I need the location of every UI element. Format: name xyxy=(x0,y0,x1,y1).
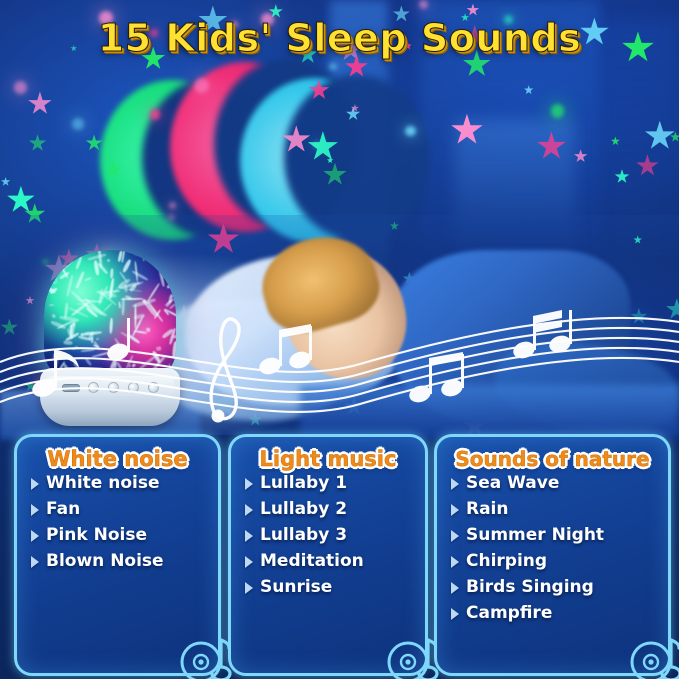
sound-list: Sea WaveRainSummer NightChirpingBirds Si… xyxy=(437,475,668,622)
sound-list-item[interactable]: Meditation xyxy=(245,553,425,570)
sound-list-item[interactable]: Birds Singing xyxy=(451,579,668,596)
sound-list: White noiseFanPink NoiseBlown Noise xyxy=(17,475,218,570)
dome-crackle-line xyxy=(108,317,112,333)
dome-crackle-line xyxy=(96,338,100,341)
star-projector-device xyxy=(40,250,180,425)
page-title: 15 Kids' Sleep Sounds xyxy=(0,16,679,60)
triangle-bullet-icon xyxy=(245,556,253,568)
sound-list-item[interactable]: Chirping xyxy=(451,553,668,570)
sound-name-label: White noise xyxy=(46,475,160,492)
triangle-bullet-icon xyxy=(31,556,39,568)
sound-name-label: Rain xyxy=(466,501,509,518)
triangle-bullet-icon xyxy=(451,608,459,620)
sound-list: Lullaby 1Lullaby 2Lullaby 3MeditationSun… xyxy=(231,475,425,596)
projected-light-dot xyxy=(169,202,176,209)
dome-crackle-line xyxy=(103,302,113,312)
product-marketing-image: 15 Kids' Sleep Sounds White noiseWhite n… xyxy=(0,0,679,679)
dome-crackle-line xyxy=(173,250,176,271)
triangle-bullet-icon xyxy=(451,478,459,490)
dome-crackle-line xyxy=(80,332,84,336)
dome-crackle-line xyxy=(75,256,83,271)
triangle-bullet-icon xyxy=(31,530,39,542)
triangle-bullet-icon xyxy=(31,478,39,490)
dome-crackle-line xyxy=(76,271,85,289)
sound-list-item[interactable]: Blown Noise xyxy=(31,553,218,570)
sound-list-item[interactable]: Summer Night xyxy=(451,527,668,544)
projected-light-dot xyxy=(14,81,27,94)
triangle-bullet-icon xyxy=(31,504,39,516)
panel-heading: Sounds of nature xyxy=(437,447,668,471)
sound-name-label: Chirping xyxy=(466,553,547,570)
sound-name-label: Summer Night xyxy=(466,527,604,544)
music-disc-icon[interactable] xyxy=(383,631,439,679)
dome-crackle-line xyxy=(156,346,162,351)
projected-light-dot xyxy=(551,104,565,118)
dome-crackle-line xyxy=(63,340,73,344)
dome-crackle-line xyxy=(85,276,92,280)
sound-category-panels: White noiseWhite noiseFanPink NoiseBlown… xyxy=(0,430,679,679)
dome-crackle-line xyxy=(107,259,110,262)
dome-crackle-line xyxy=(158,250,176,254)
triangle-bullet-icon xyxy=(245,504,253,516)
dome-crackle-line xyxy=(52,314,56,318)
dome-crackle-line xyxy=(134,261,139,282)
dome-crackle-line xyxy=(134,252,147,257)
music-disc-icon[interactable] xyxy=(626,631,679,679)
usb-port-icon xyxy=(62,384,80,392)
sound-list-item[interactable]: Sea Wave xyxy=(451,475,668,492)
sound-list-item[interactable]: Rain xyxy=(451,501,668,518)
dome-crackle-line xyxy=(121,298,143,300)
dome-crackle-line xyxy=(84,357,92,366)
sound-list-item[interactable]: Lullaby 3 xyxy=(245,527,425,544)
dome-crackle-line xyxy=(52,250,58,256)
dome-crackle-line xyxy=(132,363,137,368)
projector-dome xyxy=(44,250,176,380)
music-disc-icon[interactable] xyxy=(176,631,232,679)
dome-crackle-line xyxy=(172,358,176,366)
projector-button-1[interactable] xyxy=(88,382,99,393)
sound-name-label: Lullaby 2 xyxy=(260,501,347,518)
dome-crackle-line xyxy=(72,346,78,350)
sound-name-label: Sea Wave xyxy=(466,475,559,492)
sound-list-item[interactable]: White noise xyxy=(31,475,218,492)
dome-crackle-line xyxy=(80,348,96,352)
sound-list-item[interactable]: Fan xyxy=(31,501,218,518)
projected-light-dot xyxy=(405,126,415,136)
triangle-bullet-icon xyxy=(451,582,459,594)
projected-light-dot xyxy=(194,78,209,93)
sound-name-label: Sunrise xyxy=(260,579,332,596)
triangle-bullet-icon xyxy=(451,556,459,568)
dome-crackle-line xyxy=(146,328,150,332)
projector-button-2[interactable] xyxy=(108,382,119,393)
panel-heading: White noise xyxy=(17,447,218,471)
triangle-bullet-icon xyxy=(245,530,253,542)
triangle-bullet-icon xyxy=(245,478,253,490)
sound-panel-sounds-of-nature[interactable]: Sounds of natureSea WaveRainSummer Night… xyxy=(434,434,671,676)
projector-button-4[interactable] xyxy=(148,382,159,393)
dome-crackle-line xyxy=(87,253,106,261)
dome-crackle-line xyxy=(156,256,162,263)
sound-list-item[interactable]: Lullaby 2 xyxy=(245,501,425,518)
triangle-bullet-icon xyxy=(245,582,253,594)
sound-name-label: Campfire xyxy=(466,605,552,622)
sound-panel-white-noise[interactable]: White noiseWhite noiseFanPink NoiseBlown… xyxy=(14,434,221,676)
sound-name-label: Lullaby 1 xyxy=(260,475,347,492)
dome-crackle-line xyxy=(122,259,132,273)
sound-list-item[interactable]: Sunrise xyxy=(245,579,425,596)
sound-list-item[interactable]: Campfire xyxy=(451,605,668,622)
dome-crackle-line xyxy=(54,354,57,359)
dome-crackle-line xyxy=(118,302,121,309)
sound-panel-light-music[interactable]: Light musicLullaby 1Lullaby 2Lullaby 3Me… xyxy=(228,434,428,676)
sound-name-label: Blown Noise xyxy=(46,553,164,570)
dome-crackle-line xyxy=(131,270,148,281)
projected-light-dot xyxy=(329,63,337,71)
triangle-bullet-icon xyxy=(451,530,459,542)
triangle-bullet-icon xyxy=(451,504,459,516)
sound-list-item[interactable]: Lullaby 1 xyxy=(245,475,425,492)
sound-name-label: Pink Noise xyxy=(46,527,147,544)
projector-button-3[interactable] xyxy=(128,382,139,393)
panel-heading: Light music xyxy=(231,447,425,471)
dome-crackle-line xyxy=(49,304,55,307)
sound-name-label: Fan xyxy=(46,501,80,518)
sound-name-label: Lullaby 3 xyxy=(260,527,347,544)
sound-name-label: Meditation xyxy=(260,553,364,570)
sound-name-label: Birds Singing xyxy=(466,579,594,596)
dome-crackle-line xyxy=(121,298,125,316)
projected-light-dot xyxy=(150,109,160,119)
sound-list-item[interactable]: Pink Noise xyxy=(31,527,218,544)
